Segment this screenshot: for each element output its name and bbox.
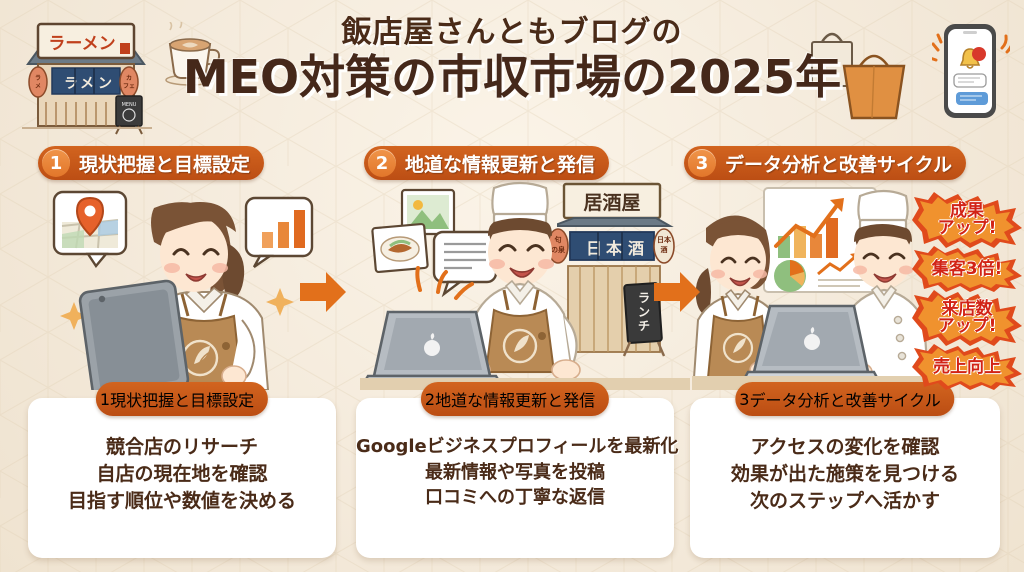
step-label-2: 地道な情報更新と発信: [405, 150, 595, 177]
badge-label-1: 集客3倍!: [932, 261, 1003, 278]
svg-text:本: 本: [605, 239, 623, 258]
card-title-1: 現状把握と目標設定: [110, 387, 254, 411]
badge-label-0: 成果 アップ!: [938, 203, 997, 237]
map-pin-bubble: [54, 192, 126, 266]
svg-text:居酒屋: 居酒屋: [583, 192, 640, 214]
svg-text:匂: 匂: [554, 235, 562, 244]
step-pill-1[interactable]: 1 現状把握と目標設定: [38, 146, 264, 180]
card-line: 次のステップへ活かす: [690, 488, 1000, 515]
card-pill-2: 2 地道な情報更新と発信: [421, 382, 609, 416]
illustration-panel-2: 居酒屋 日 本 酒 匂 の泉 日本 酒: [360, 180, 690, 390]
card-number-1: 1: [100, 390, 110, 409]
card-body-2: Googleビジネスプロフィールを最新化 最新情報や写真を投稿 口コミへの丁寧な…: [356, 434, 674, 511]
infographic-canvas: ラーメン ラ メ ン ラ メ カ フェ: [0, 0, 1024, 572]
svg-text:日本: 日本: [657, 235, 672, 244]
illustration-panel-3: [692, 180, 942, 390]
badge-uriage-koujou: 売上向上: [912, 344, 1022, 390]
card-number-3: 3: [739, 390, 749, 409]
step-number-3: 3: [688, 149, 716, 177]
flow-arrow-1: [300, 272, 346, 312]
svg-text:チ: チ: [638, 319, 650, 333]
card-line: 目指す順位や数値を決める: [28, 488, 336, 515]
badge-seika-up: 成果 アップ!: [912, 192, 1022, 248]
step-label-3: データ分析と改善サイクル: [725, 150, 952, 177]
card-line: Googleビジネスプロフィールを最新化: [356, 434, 674, 460]
tablet-device: [79, 280, 189, 390]
bar-chart-bubble: [246, 198, 312, 267]
card-body-3: アクセスの変化を確認 効果が出た施策を見つける 次のステップへ活かす: [690, 434, 1000, 515]
step-card-2[interactable]: 2 地道な情報更新と発信 Googleビジネスプロフィールを最新化 最新情報や写…: [356, 398, 674, 558]
card-title-3: データ分析と改善サイクル: [749, 387, 940, 411]
card-line: 最新情報や写真を投稿: [356, 460, 674, 486]
step-card-3[interactable]: 3 データ分析と改善サイクル アクセスの変化を確認 効果が出た施策を見つける 次…: [690, 398, 1000, 558]
chef-with-laptop-illustration: 居酒屋 日 本 酒 匂 の泉 日本 酒: [360, 180, 690, 390]
step-pill-3[interactable]: 3 データ分析と改善サイクル: [684, 146, 966, 180]
svg-text:の泉: の泉: [551, 245, 566, 254]
card-pill-1: 1 現状把握と目標設定: [96, 382, 268, 416]
badge-label-3: 売上向上: [933, 359, 1001, 376]
step-label-1: 現状把握と目標設定: [79, 150, 250, 177]
page-title: MEO対策の市収市場の2025年: [0, 53, 1024, 103]
team-analyzing-data-illustration: [692, 180, 942, 390]
title-block: 飯店屋さんともブログの MEO対策の市収市場の2025年: [0, 16, 1024, 103]
step-pill-2[interactable]: 2 地道な情報更新と発信: [364, 146, 609, 180]
svg-text:酒: 酒: [628, 239, 644, 258]
review-comment-bubble: [434, 232, 496, 294]
card-number-2: 2: [425, 390, 435, 409]
svg-text:ラ: ラ: [638, 291, 650, 305]
card-line: 効果が出た施策を見つける: [690, 461, 1000, 488]
svg-text:酒: 酒: [661, 245, 668, 254]
badge-raiten-up: 来店数 アップ!: [912, 290, 1022, 346]
card-line: 自店の現在地を確認: [28, 461, 336, 488]
step-number-2: 2: [368, 149, 396, 177]
card-line: 競合店のリサーチ: [28, 434, 336, 461]
card-title-2: 地道な情報更新と発信: [435, 387, 595, 411]
step-number-1: 1: [42, 149, 70, 177]
photo-card-food: [372, 224, 428, 272]
result-badges: 成果 アップ! 集客3倍! 来店数 アップ! 売上向上: [912, 192, 1022, 388]
svg-text:ン: ン: [638, 305, 650, 319]
card-line: アクセスの変化を確認: [690, 434, 1000, 461]
svg-text:MENU: MENU: [122, 102, 137, 108]
card-body-1: 競合店のリサーチ 自店の現在地を確認 目指す順位や数値を決める: [28, 434, 336, 515]
svg-text:日: 日: [586, 239, 602, 258]
badge-shukyaku-3x: 集客3倍!: [912, 246, 1022, 292]
step-card-1[interactable]: 1 現状把握と目標設定 競合店のリサーチ 自店の現在地を確認 目指す順位や数値を…: [28, 398, 336, 558]
card-line: 口コミへの丁寧な返信: [356, 485, 674, 511]
flow-arrow-2: [654, 272, 700, 312]
page-subtitle: 飯店屋さんともブログの: [0, 16, 1024, 49]
header: ラーメン ラ メ ン ラ メ カ フェ: [0, 0, 1024, 140]
badge-label-2: 来店数 アップ!: [938, 301, 997, 335]
